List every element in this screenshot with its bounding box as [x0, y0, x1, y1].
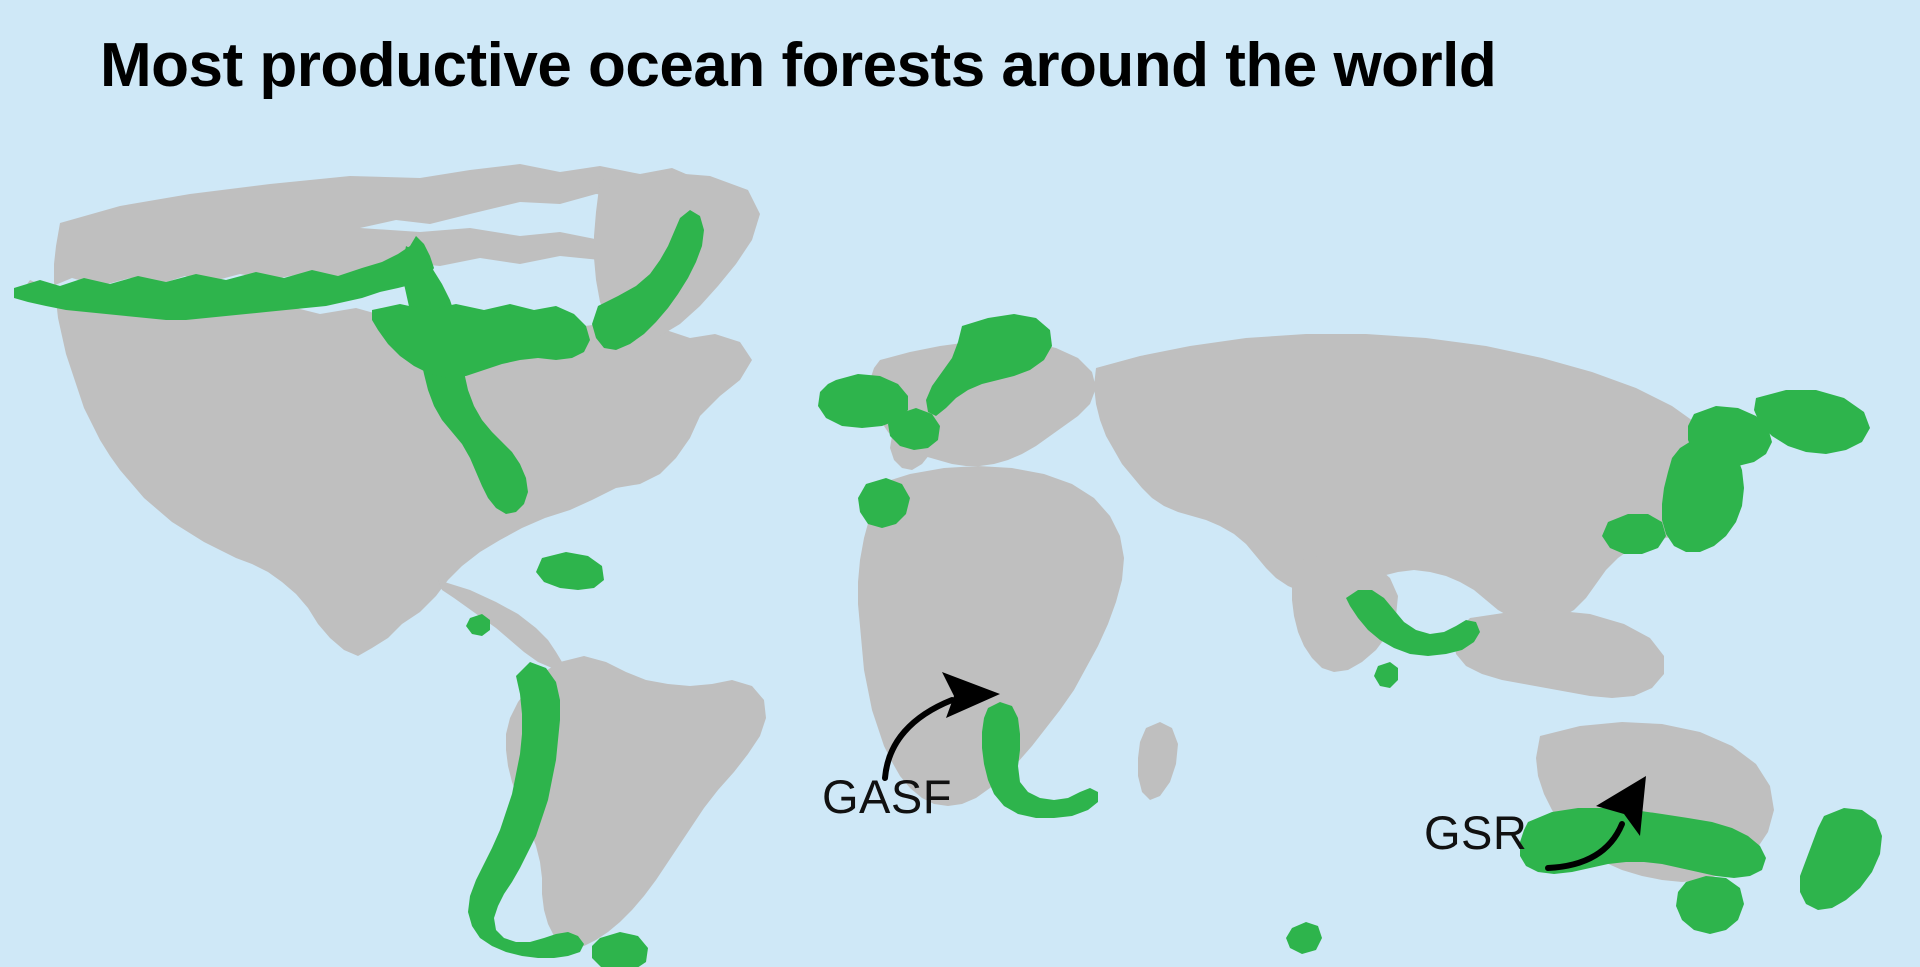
annotation-label-gasf: GASF [822, 769, 952, 824]
page-title: Most productive ocean forests around the… [100, 32, 1496, 100]
annotation-label-gsr: GSR [1424, 805, 1527, 860]
world-map [0, 128, 1920, 967]
world-map-svg [0, 128, 1920, 967]
infographic-root: Most productive ocean forests around the… [0, 0, 1920, 967]
